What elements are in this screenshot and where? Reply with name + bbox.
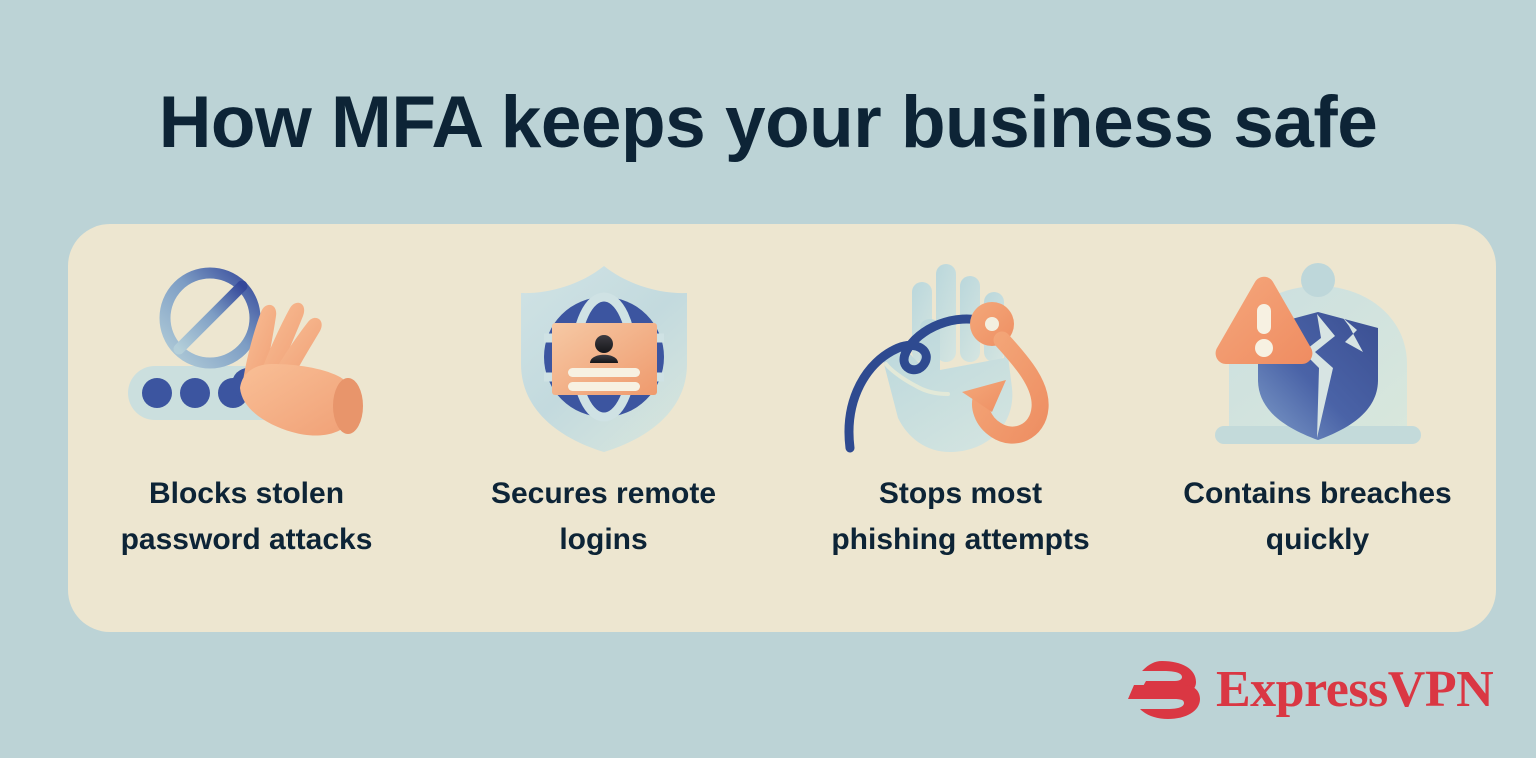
hand-stop-phishing-hook-icon bbox=[836, 260, 1086, 455]
feature-item-1: Blocks stolen password attacks bbox=[82, 260, 412, 562]
blocked-password-steal-icon bbox=[122, 260, 372, 455]
feature-item-2: Secures remote logins bbox=[439, 260, 769, 562]
feature-item-3: Stops most phishing attempts bbox=[796, 260, 1126, 562]
expressvpn-e-mark-icon bbox=[1128, 659, 1202, 721]
infographic-canvas: How MFA keeps your business safe bbox=[0, 0, 1536, 758]
feature-label-4: Contains breaches quickly bbox=[1183, 471, 1451, 562]
feature-label-3-line2: phishing attempts bbox=[831, 517, 1089, 563]
shield-globe-id-card-icon bbox=[479, 260, 729, 455]
feature-item-4: Contains breaches quickly bbox=[1153, 260, 1483, 562]
cracked-shield-dome-warning-icon bbox=[1193, 260, 1443, 455]
feature-label-2: Secures remote logins bbox=[491, 471, 716, 562]
features-card: Blocks stolen password attacks bbox=[68, 224, 1496, 632]
feature-label-3: Stops most phishing attempts bbox=[831, 471, 1089, 562]
expressvpn-logo: ExpressVPN bbox=[1128, 655, 1468, 725]
feature-label-1-line1: Blocks stolen bbox=[121, 471, 373, 517]
feature-label-2-line2: logins bbox=[491, 517, 716, 563]
feature-label-3-line1: Stops most bbox=[831, 471, 1089, 517]
feature-label-2-line1: Secures remote bbox=[491, 471, 716, 517]
page-title: How MFA keeps your business safe bbox=[0, 86, 1536, 159]
features-row: Blocks stolen password attacks bbox=[68, 224, 1496, 632]
feature-label-4-line1: Contains breaches bbox=[1183, 471, 1451, 517]
feature-label-1-line2: password attacks bbox=[121, 517, 373, 563]
feature-label-4-line2: quickly bbox=[1183, 517, 1451, 563]
expressvpn-wordmark: ExpressVPN bbox=[1216, 664, 1493, 716]
feature-label-1: Blocks stolen password attacks bbox=[121, 471, 373, 562]
